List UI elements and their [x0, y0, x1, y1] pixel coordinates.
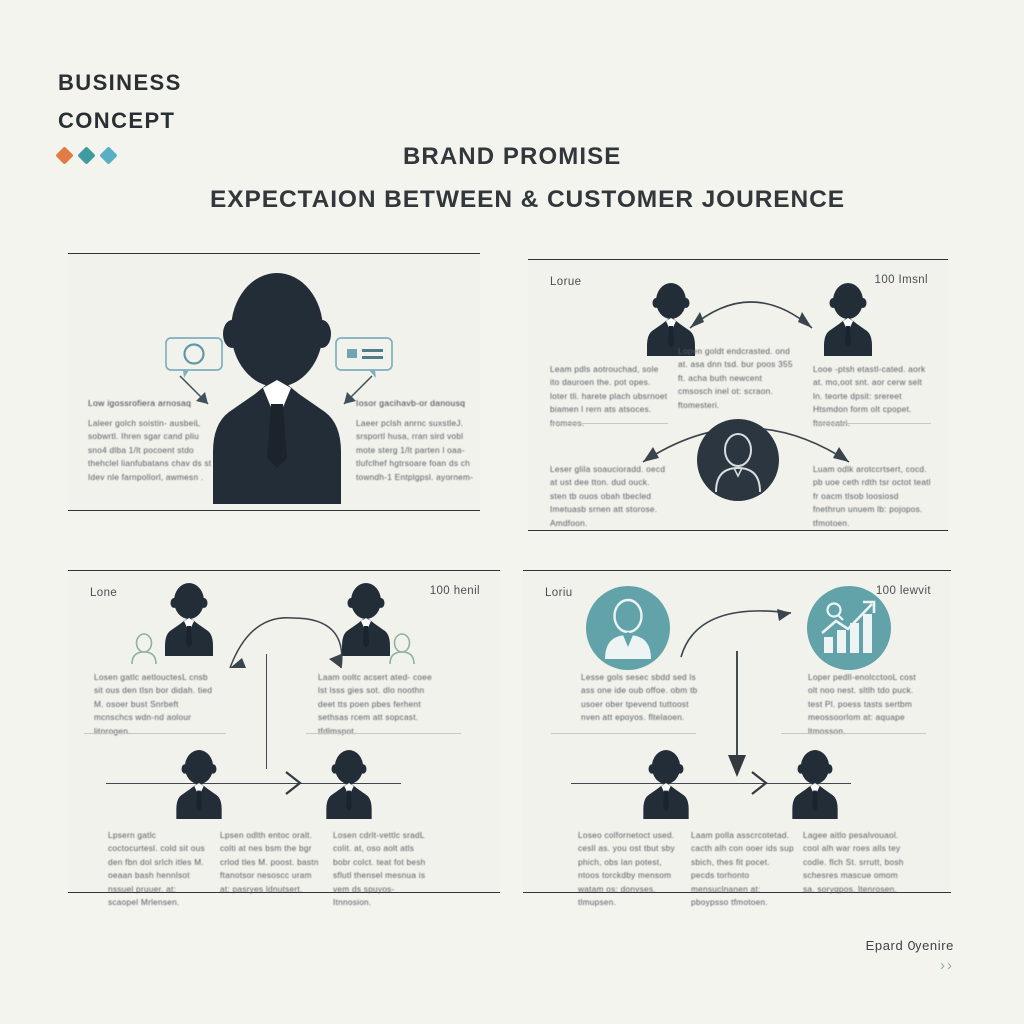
camera-bubble-icon — [165, 337, 231, 371]
bl-tag-left: Lone — [90, 587, 117, 599]
tr-tag-left: Lorue — [550, 276, 581, 288]
person-icon-br-bl — [640, 751, 692, 819]
page-title: BRAND PROMISE EXPECTAION BETWEEN & CUSTO… — [210, 140, 1000, 217]
br-divider-right — [781, 733, 926, 734]
persona-left-text: Low igossrofiera arnosaq Laleer golch so… — [88, 397, 216, 484]
customer-persona-panel: Low igossrofiera arnosaq Laleer golch so… — [68, 253, 480, 511]
footer-label: Epard Ѹenire — [866, 938, 954, 953]
br-text-e: Lagee aitlo pesalvouaol. cool alh war ro… — [803, 829, 907, 896]
growth-flow-panel: Loriu 100 lewvit Lesse gols sesec sbdd — [523, 570, 951, 893]
bl-text-a: Losen gatlc aetlouctesL cnsb sit ous den… — [94, 671, 214, 738]
bl-text-d: Lpsen odlth entoc oralt. colti at nes bs… — [220, 829, 320, 896]
br-text-a: Lesse gols sesec sbdd sed ls ass one ide… — [581, 671, 699, 725]
persona-right-text: Iosor gacihavb-or danousq Laeer pclsh an… — [356, 397, 476, 484]
bl-vertical-connector — [266, 654, 267, 769]
list-bubble-icon — [335, 337, 401, 371]
br-flow-arrowhead-icon — [748, 769, 772, 797]
title-line-2: EXPECTAION BETWEEN & CUSTOMER JOURENCE — [210, 182, 1000, 218]
person-icon-br-br — [789, 751, 841, 819]
bl-text-c: Lpsern gatlc coctocurtesl. cold sit ous … — [108, 829, 208, 910]
bl-text-e: Losen cdrlt-vettlc sradL colit. at, oso … — [333, 829, 433, 910]
br-tag-left: Loriu — [545, 587, 573, 599]
chevron-right-icon: ›› — [866, 957, 954, 974]
infographic-poster: BUSINESS CONCEPT BRAND PROMISE EXPECTAIO… — [0, 0, 1024, 1024]
diamond-orange-icon — [55, 146, 73, 164]
person-icon-bl-bl — [173, 751, 225, 819]
br-divider-left — [551, 733, 696, 734]
footer: Epard Ѹenire ›› — [866, 938, 954, 974]
diamond-teal-icon — [77, 146, 95, 164]
brand-line-2: CONCEPT — [58, 102, 378, 140]
tr-tag-right: 100 Imsnl — [875, 274, 928, 286]
tr-text-d: Leser glila soaucioradd. oecd at ust dee… — [550, 463, 668, 530]
bl-divider-right — [306, 733, 461, 734]
outline-person-icon-right — [388, 633, 416, 665]
br-down-arrow-icon — [726, 651, 748, 783]
br-text-d: Laam polla asscrcotetad. cacth alh con o… — [691, 829, 795, 910]
person-icon-tr-right — [823, 284, 873, 356]
persona-left-heading: Low igossrofiera arnosaq — [88, 397, 216, 411]
brand-line-1: BUSINESS — [58, 64, 378, 102]
bl-flow-arrowhead-icon — [282, 769, 306, 797]
br-text-b: Loper pedll-enolcctooL cost olt noo nest… — [808, 671, 926, 738]
bl-text-b: Laam ooltc acsert ated- coee lst lsss gi… — [318, 671, 438, 738]
tr-top-curve-arrow-icon — [678, 288, 824, 336]
persona-right-heading: Iosor gacihavb-or danousq — [356, 397, 476, 411]
br-text-c: Loseo colfornetoct used. cesll as. you o… — [578, 829, 682, 910]
tr-text-e: Luam odlk arotccrtsert, cocd. pb uoe cet… — [813, 463, 931, 530]
persona-right-body: Laeer pclsh anrnc suxstleJ. srsportl hus… — [356, 418, 473, 482]
bl-curve-arrows-icon — [198, 606, 373, 674]
avatar-circle-icon — [696, 418, 780, 502]
outline-person-icon-left — [130, 633, 158, 665]
growth-chart-circle-icon — [806, 585, 892, 671]
customer-circle-icon — [585, 585, 671, 671]
process-flow-panel: Lone 100 henil — [68, 570, 500, 893]
person-icon-bl-br — [323, 751, 375, 819]
title-line-1: BRAND PROMISE — [210, 140, 1000, 175]
diamond-blue-icon — [99, 146, 117, 164]
bl-tag-right: 100 henil — [430, 585, 480, 597]
bl-divider-left — [84, 733, 226, 734]
persona-left-body: Laleer golch soistin- ausbeiL sobwrtl. I… — [88, 418, 211, 482]
stakeholder-loop-panel: Lorue 100 Imsnl Lopen goldt endcra — [528, 259, 948, 531]
person-silhouette-icon — [203, 272, 351, 504]
